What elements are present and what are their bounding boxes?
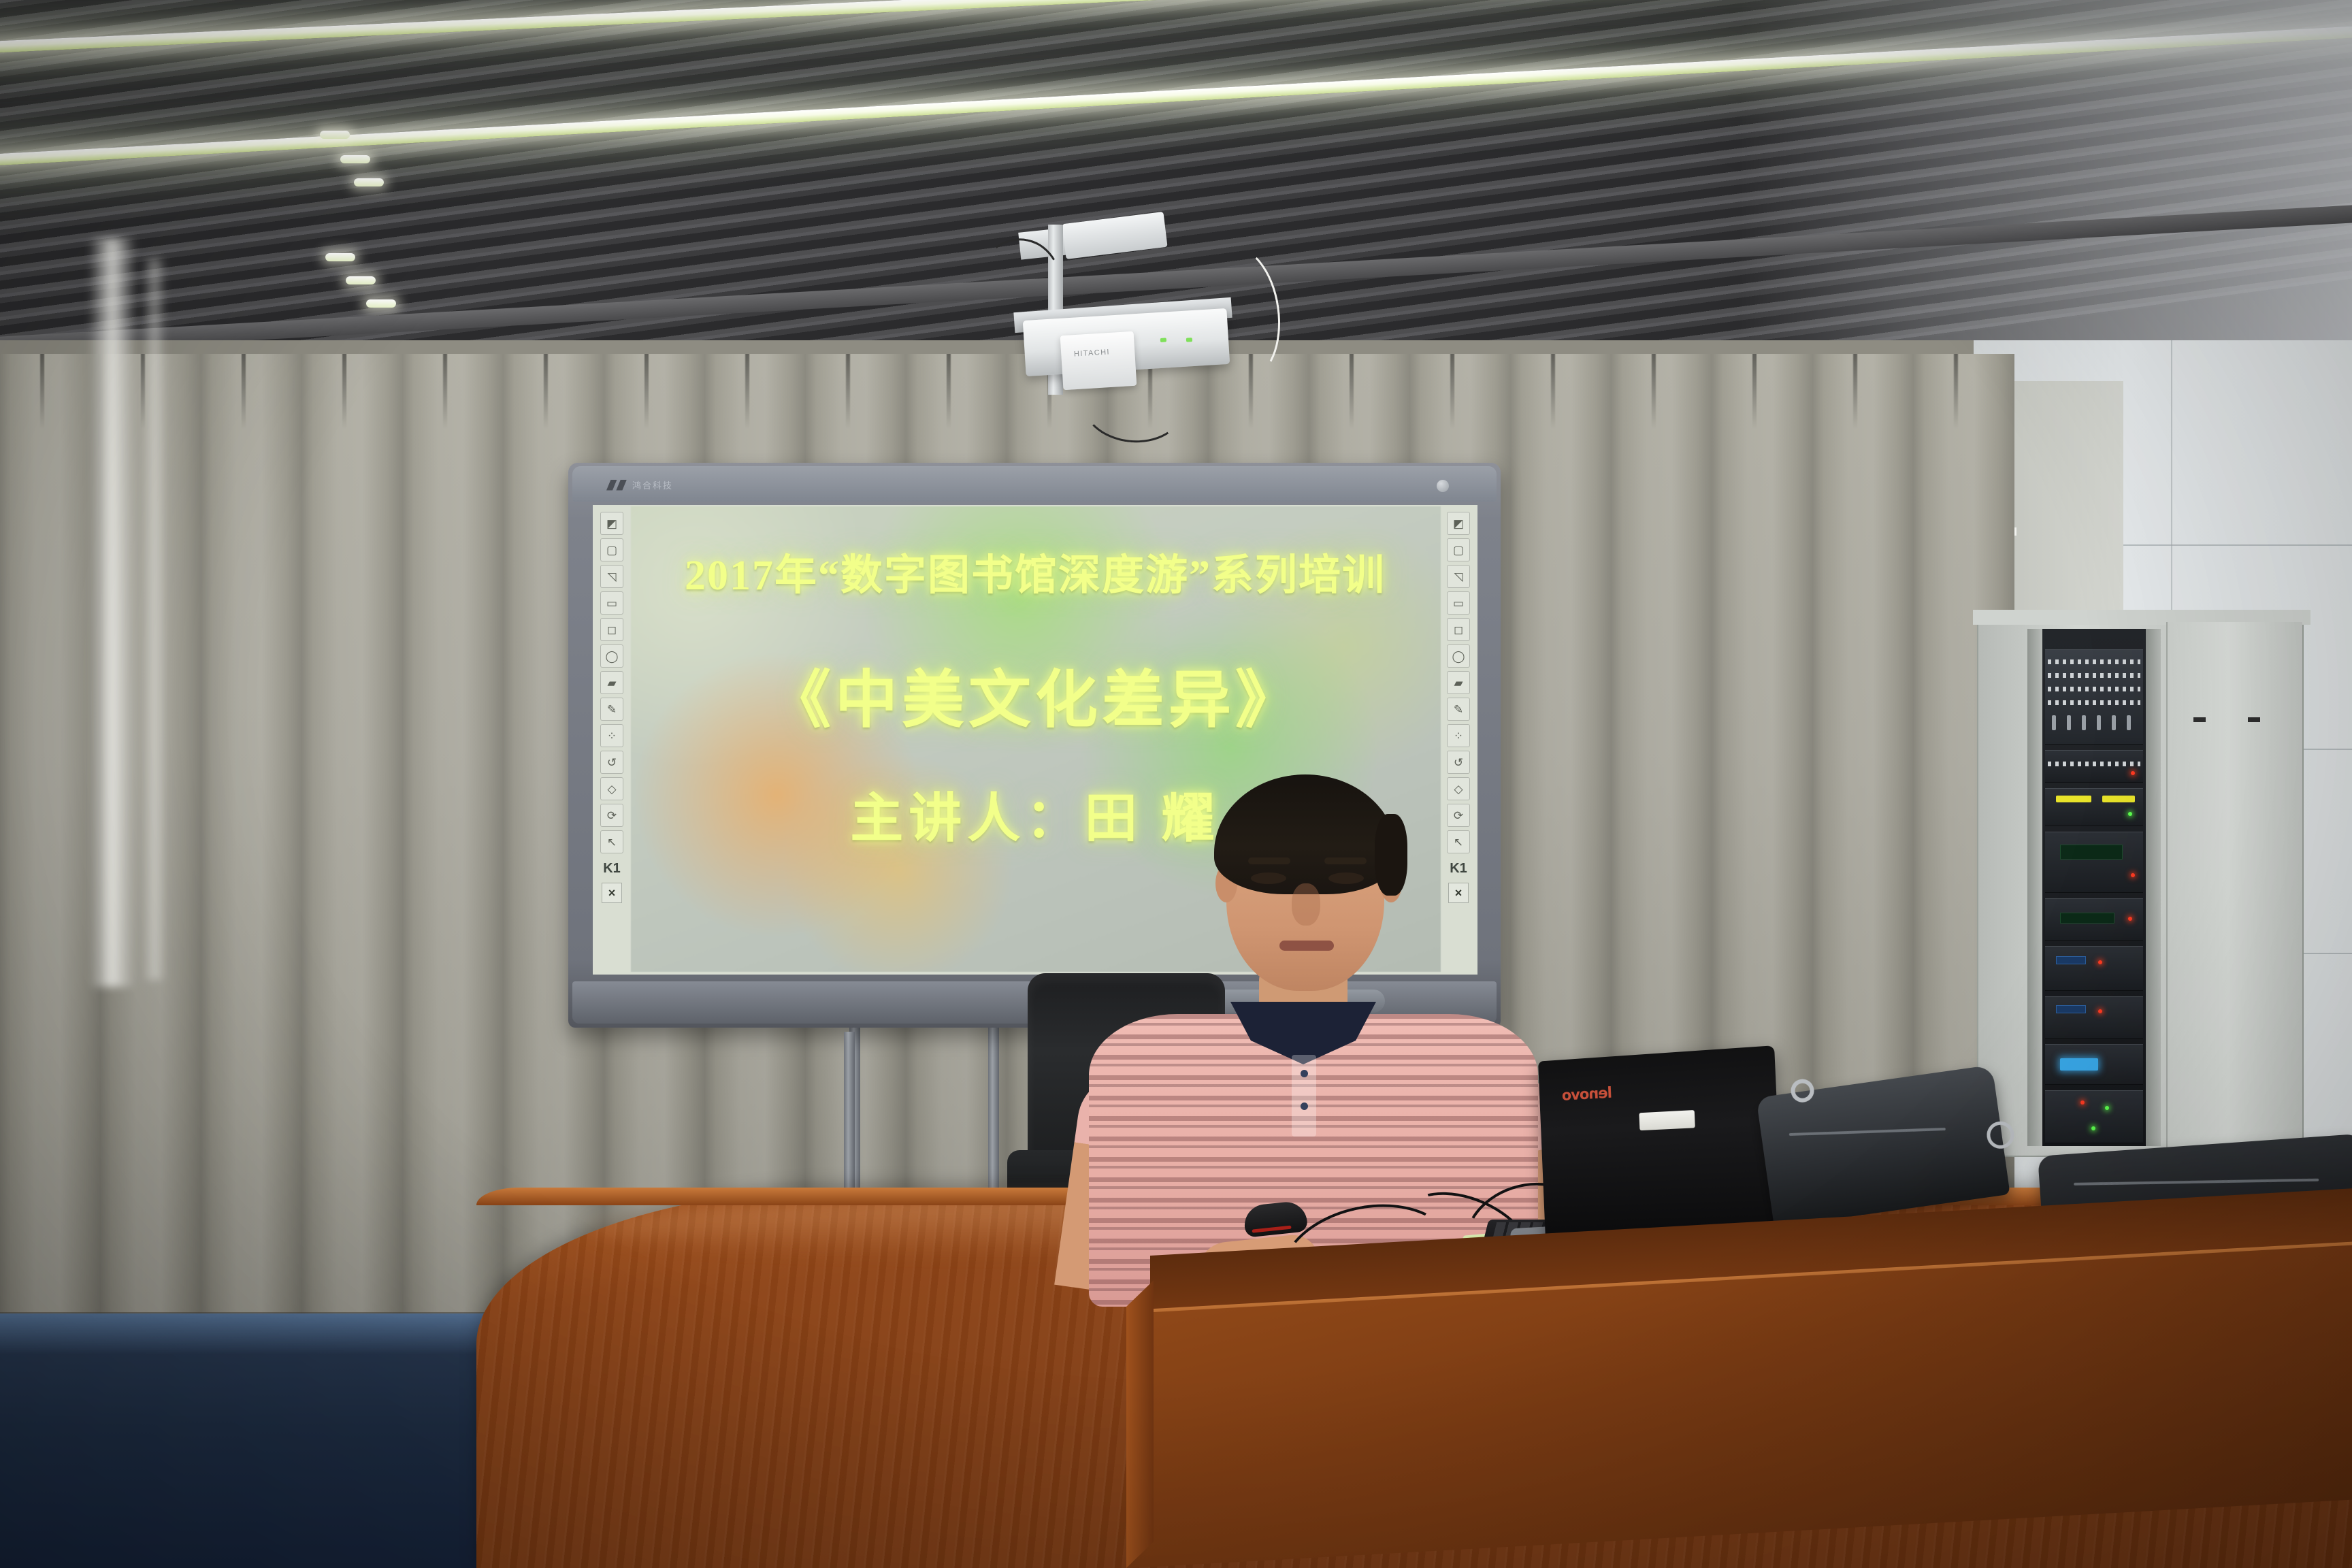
mixer-fader — [2082, 715, 2086, 730]
cube-icon[interactable]: ◩ — [1447, 512, 1470, 535]
brand-mark-icon — [606, 480, 627, 491]
refresh-icon[interactable]: ⟳ — [600, 804, 623, 827]
rack-yellow-label — [2056, 796, 2091, 802]
rounded-rect-icon[interactable]: ▭ — [1447, 591, 1470, 615]
rack-led-green — [2105, 1106, 2109, 1110]
pen-icon[interactable]: ✎ — [1447, 698, 1470, 721]
av-equipment-rack — [1977, 619, 2304, 1157]
shirt-button — [1301, 1070, 1308, 1077]
whiteboard-key-label-left: K1 — [603, 861, 621, 877]
curtain-light-leak — [88, 238, 136, 987]
shirt-button — [1301, 1102, 1308, 1110]
rack-unit-processor — [2045, 832, 2143, 893]
bag-zipper — [1789, 1128, 1946, 1136]
speaker-eyebrow-left — [1248, 857, 1290, 864]
mixer-fader — [2052, 715, 2056, 730]
rack-rail-right — [2146, 629, 2161, 1146]
page-corner-icon[interactable]: ◹ — [600, 565, 623, 588]
ellipse-icon[interactable]: ◯ — [600, 644, 623, 668]
rack-led-red — [2080, 1100, 2085, 1105]
rack-led-red — [2131, 771, 2135, 775]
speaker-hair — [1214, 774, 1396, 894]
rack-front-door[interactable] — [2166, 622, 2302, 1157]
rack-unit-dsp — [2045, 788, 2143, 826]
oval-icon[interactable]: ◻ — [1447, 618, 1470, 641]
new-page-icon[interactable]: ▢ — [1447, 538, 1470, 561]
curtain-light-leak-secondary — [143, 259, 166, 980]
rack-yellow-label — [2102, 796, 2135, 802]
undo-arrow-icon[interactable]: ↺ — [600, 751, 623, 774]
page-corner-icon[interactable]: ◹ — [1447, 565, 1470, 588]
rack-led-green — [2091, 1126, 2095, 1130]
mixer-knob-row — [2048, 687, 2140, 691]
rack-unit-controller — [2045, 898, 2143, 941]
new-page-icon[interactable]: ▢ — [600, 538, 623, 561]
rack-unit-audio-mixer — [2045, 649, 2143, 745]
light-stub-e — [346, 276, 376, 284]
light-stub-b — [340, 155, 370, 163]
cube-icon[interactable]: ◩ — [600, 512, 623, 535]
mixer-knob-row — [2048, 673, 2140, 678]
bag-zipper — [2074, 1179, 2319, 1186]
speaker-shirt-placket — [1292, 1055, 1316, 1137]
dots-icon[interactable]: ⁘ — [600, 724, 623, 747]
rack-led-red — [2098, 960, 2102, 964]
whiteboard-top-bar: 鸿合科技 — [572, 466, 1497, 502]
lecture-room-photo: HITACHI 鸿合科技 2017年“数字图书馆深度游”系列培训 《中美文化差异… — [0, 0, 2352, 1568]
speaker-mouth — [1279, 941, 1334, 951]
mixer-fader — [2127, 715, 2131, 730]
speaker-eye-left — [1251, 872, 1286, 884]
speaker-eye-right — [1328, 872, 1364, 884]
laptop-lid[interactable]: lenovo — [1538, 1045, 1782, 1238]
whiteboard-close-icon-left[interactable]: × — [602, 883, 622, 903]
slide-series-line: 2017年“数字图书馆深度游”系列培训 — [593, 540, 1477, 602]
light-stub-d — [325, 253, 355, 261]
rack-display — [2060, 845, 2123, 860]
projector-status-led-1 — [1160, 338, 1166, 342]
patch-port-row — [2048, 762, 2140, 766]
rack-unit-cd-player — [2045, 1044, 2143, 1085]
rack-led-green — [2128, 812, 2132, 816]
mouse-accent-stripe — [1252, 1226, 1291, 1233]
rack-blue-display — [2060, 1058, 2098, 1071]
speaker-nose — [1292, 883, 1320, 926]
whiteboard-knob-right — [1437, 480, 1449, 492]
desk-return-corner-bevel — [1126, 1280, 1154, 1568]
rack-unit-power-amp-2 — [2045, 996, 2143, 1039]
rack-display — [2056, 1005, 2086, 1013]
whiteboard-brand-label: 鸿合科技 — [632, 478, 673, 491]
rack-led-red — [2098, 1009, 2102, 1013]
light-stub-a — [320, 131, 350, 139]
laptop-brand-label: lenovo — [1562, 1085, 1612, 1105]
rack-unit-power-sequencer — [2045, 1090, 2143, 1143]
diamond-icon[interactable]: ◇ — [600, 777, 623, 800]
mixer-fader — [2112, 715, 2116, 730]
mixer-fader — [2097, 715, 2101, 730]
ellipse-icon[interactable]: ◯ — [1447, 644, 1470, 668]
light-stub-f — [366, 299, 396, 308]
mixer-fader — [2067, 715, 2071, 730]
whiteboard-left-toolbar[interactable]: ◩ ▢ ◹ ▭ ◻ ◯ ▰ ✎ ⁘ ↺ ◇ ⟳ ↖ K1 × — [597, 512, 627, 903]
light-stub-c — [354, 178, 384, 186]
mixer-knob-row — [2048, 700, 2140, 705]
whiteboard-stand-crossbar — [844, 1032, 855, 1209]
rack-display — [2056, 956, 2086, 964]
speaker-eyebrow-right — [1324, 857, 1367, 864]
mixer-knob-row — [2048, 659, 2140, 664]
rack-door-vent — [2193, 717, 2206, 722]
rounded-rect-icon[interactable]: ▭ — [600, 591, 623, 615]
oval-icon[interactable]: ◻ — [600, 618, 623, 641]
rack-display — [2060, 913, 2114, 924]
eraser-icon[interactable]: ▰ — [600, 671, 623, 694]
eraser-icon[interactable]: ▰ — [1447, 671, 1470, 694]
whiteboard-brand: 鸿合科技 — [606, 478, 673, 491]
curtain-pleats — [0, 354, 2014, 429]
rack-led-red — [2131, 873, 2135, 877]
slide-title-line: 《中美文化差异》 — [593, 649, 1477, 740]
rack-led-red — [2128, 917, 2132, 921]
rack-rail-left — [2027, 629, 2042, 1146]
rack-unit-patch-panel — [2045, 750, 2143, 783]
projector-status-led-2 — [1186, 338, 1192, 342]
rack-unit-power-amp-1 — [2045, 946, 2143, 991]
rack-door-vent — [2248, 717, 2260, 722]
laptop-asset-sticker — [1639, 1110, 1695, 1130]
dots-icon[interactable]: ⁘ — [1447, 724, 1470, 747]
cursor-arrow-icon[interactable]: ↖ — [600, 830, 623, 853]
pen-icon[interactable]: ✎ — [600, 698, 623, 721]
rack-open-bay — [2027, 629, 2161, 1146]
